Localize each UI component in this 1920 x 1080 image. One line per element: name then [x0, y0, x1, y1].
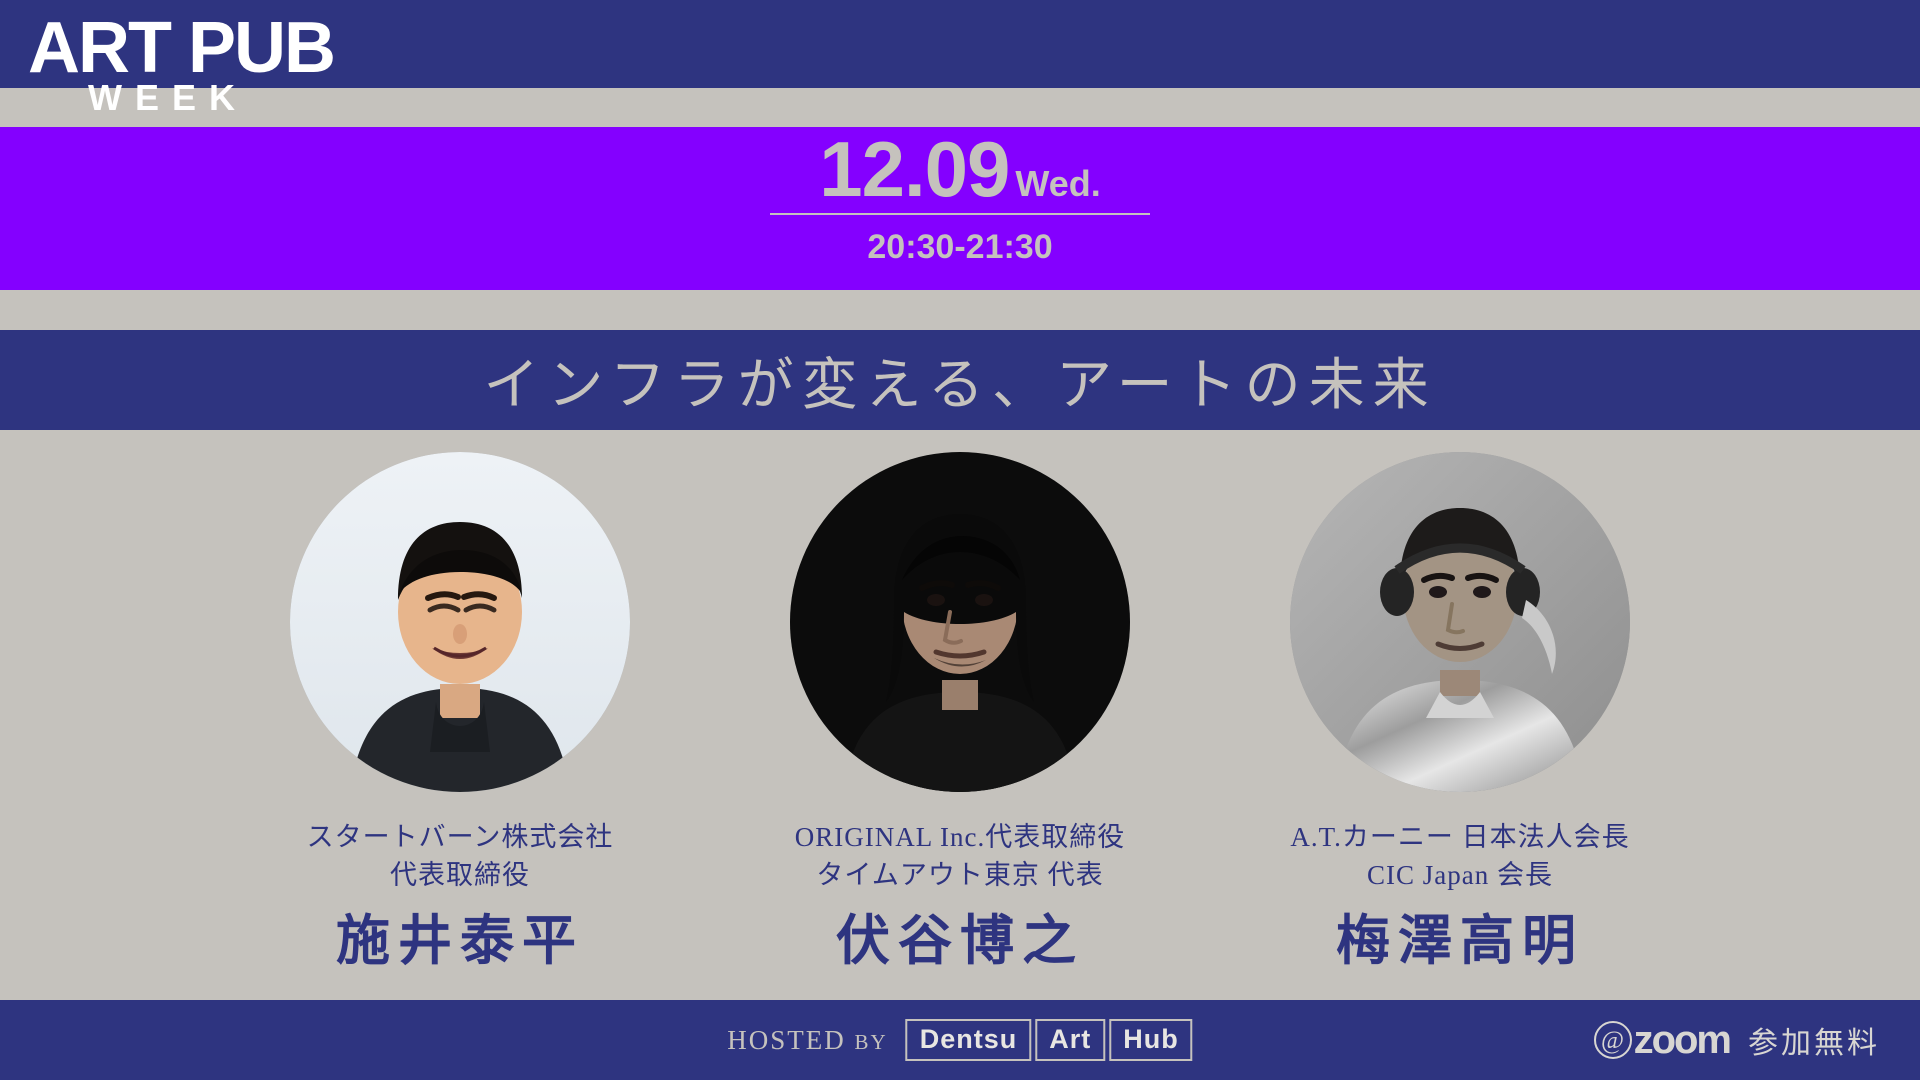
speaker-role: スタートバーン株式会社 代表取締役: [307, 818, 614, 894]
speaker-name: 施井泰平: [336, 912, 584, 970]
speaker-card: ORIGINAL Inc.代表取締役 タイムアウト東京 代表 伏谷博之: [710, 430, 1210, 970]
brand-logo-week: WEEK: [88, 80, 248, 116]
hosted-by-group: HOSTED BY Dentsu Art Hub: [727, 1000, 1192, 1080]
date-divider: [770, 213, 1150, 215]
footer: HOSTED BY Dentsu Art Hub @ zoom 参加無料: [0, 1000, 1920, 1080]
host-brand-box-art: Art: [1035, 1019, 1105, 1061]
host-brand-boxes: Dentsu Art Hub: [906, 1019, 1193, 1061]
speaker-name: 梅澤高明: [1336, 912, 1584, 970]
avatar: [290, 452, 630, 792]
speaker-role-line1: ORIGINAL Inc.代表取締役: [795, 818, 1125, 856]
speaker-role-line2: CIC Japan 会長: [1290, 856, 1629, 894]
speaker-role-line2: タイムアウト東京 代表: [795, 856, 1125, 894]
free-participation-label: 参加無料: [1748, 1018, 1880, 1062]
hosted-by-label: HOSTED BY: [727, 1025, 887, 1056]
zoom-logo: @ zoom: [1594, 1020, 1730, 1060]
gray-band-lower: [0, 290, 1920, 330]
speaker-role-line1: A.T.カーニー 日本法人会長: [1290, 818, 1629, 856]
event-poster: ART PUB WEEK 12.09 Wed. 20:30-21:30 インフラ…: [0, 0, 1920, 1080]
avatar: [1290, 452, 1630, 792]
host-brand-box-hub: Hub: [1109, 1019, 1192, 1061]
brand-logo-art-pub: ART PUB: [28, 12, 334, 84]
event-time: 20:30-21:30: [720, 227, 1200, 267]
speaker-role-line2: 代表取締役: [307, 856, 614, 894]
speaker-card: A.T.カーニー 日本法人会長 CIC Japan 会長 梅澤高明: [1210, 430, 1710, 970]
speaker-role-line1: スタートバーン株式会社: [307, 818, 614, 856]
speaker-role: ORIGINAL Inc.代表取締役 タイムアウト東京 代表: [795, 818, 1125, 894]
zoom-info-group: @ zoom 参加無料: [1594, 1000, 1880, 1080]
speaker-list: スタートバーン株式会社 代表取締役 施井泰平: [0, 430, 1920, 1000]
schedule-block: 12.09 Wed. 20:30-21:30: [0, 127, 1920, 290]
speaker-name: 伏谷博之: [836, 912, 1084, 970]
hosted-by-main: HOSTED: [727, 1025, 846, 1055]
avatar: [790, 452, 1130, 792]
hosted-by-small: BY: [855, 1030, 888, 1054]
speaker-role: A.T.カーニー 日本法人会長 CIC Japan 会長: [1290, 818, 1629, 894]
zoom-wordmark: zoom: [1634, 1020, 1730, 1060]
event-date: 12.09: [819, 129, 1009, 209]
host-brand-box-dentsu: Dentsu: [906, 1019, 1032, 1061]
at-symbol-icon: @: [1594, 1021, 1632, 1059]
speaker-card: スタートバーン株式会社 代表取締役 施井泰平: [210, 430, 710, 970]
event-weekday: Wed.: [1015, 166, 1100, 202]
session-title: インフラが変える、アートの未来: [0, 330, 1920, 430]
brand-logo: ART PUB WEEK: [28, 6, 348, 124]
